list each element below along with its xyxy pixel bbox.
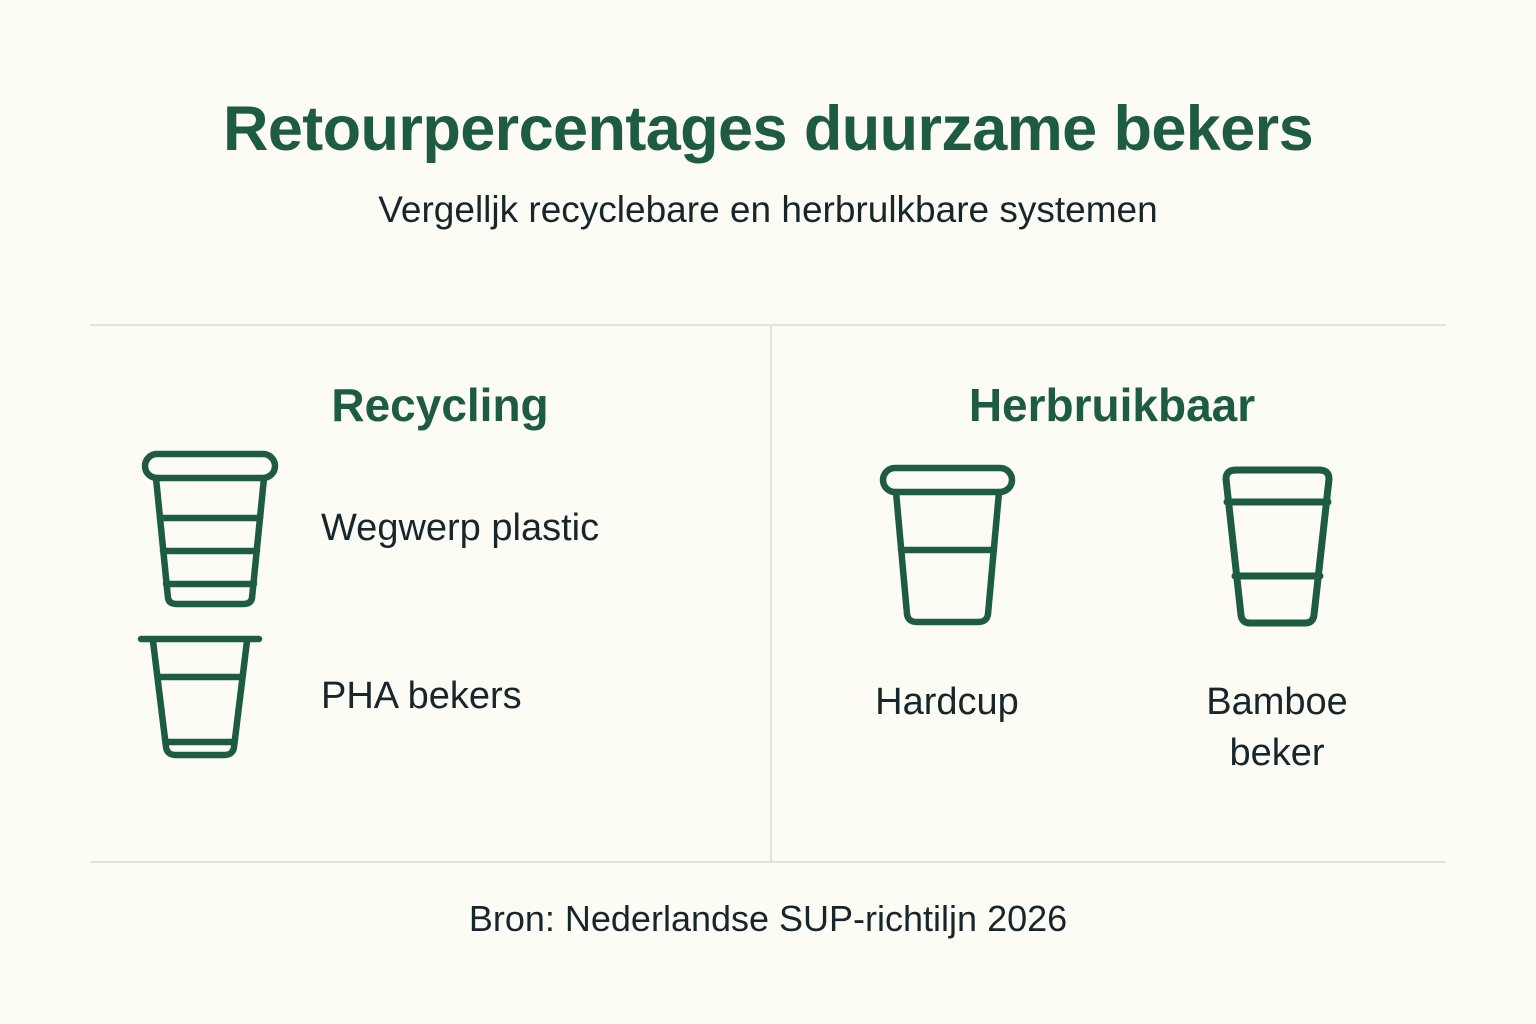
infographic-poster: Retourpercentages duurzame bekers Vergel… [0,0,1536,1024]
column-recycling: Recycling Wegwerp plastic [90,324,770,862]
list-item-label: Bamboe beker [1182,677,1372,780]
column-heading-recycling: Recycling [90,324,770,431]
comparison-columns: Recycling Wegwerp plastic [90,324,1446,862]
list-item-label: Wegwerp plastic [321,507,599,551]
list-item[interactable]: Bamboe beker [1182,457,1372,780]
list-item-label: PHA bekers [321,675,522,719]
source-note: Bron: Nederlandse SUP-richtiljn 2026 [469,861,1067,939]
header: Retourpercentages duurzame bekers Vergel… [0,0,1536,231]
hardcup-icon [875,457,1020,637]
page-title: Retourpercentages duurzame bekers [0,96,1536,162]
bamboo-cup-icon [1210,457,1345,637]
list-item-label: Hardcup [875,677,1019,728]
pha-cup-icon [135,629,305,764]
herbruikbaar-item-grid: Hardcup Bamboe beker [770,457,1446,780]
column-heading-herbruikbaar: Herbruikbaar [770,324,1446,431]
recycling-item-list: Wegwerp plastic PHA bekers [90,445,770,781]
page-subtitle: Vergelljk recyclebare en herbrulkbare sy… [0,162,1536,231]
footer: Bron: Nederlandse SUP-richtiljn 2026 [0,861,1536,1024]
list-item[interactable]: PHA bekers [135,613,770,781]
list-item[interactable]: Hardcup [852,457,1042,780]
list-item[interactable]: Wegwerp plastic [135,445,770,613]
disposable-plastic-cup-icon [135,448,305,610]
column-herbruikbaar: Herbruikbaar Hardcup [770,324,1446,862]
